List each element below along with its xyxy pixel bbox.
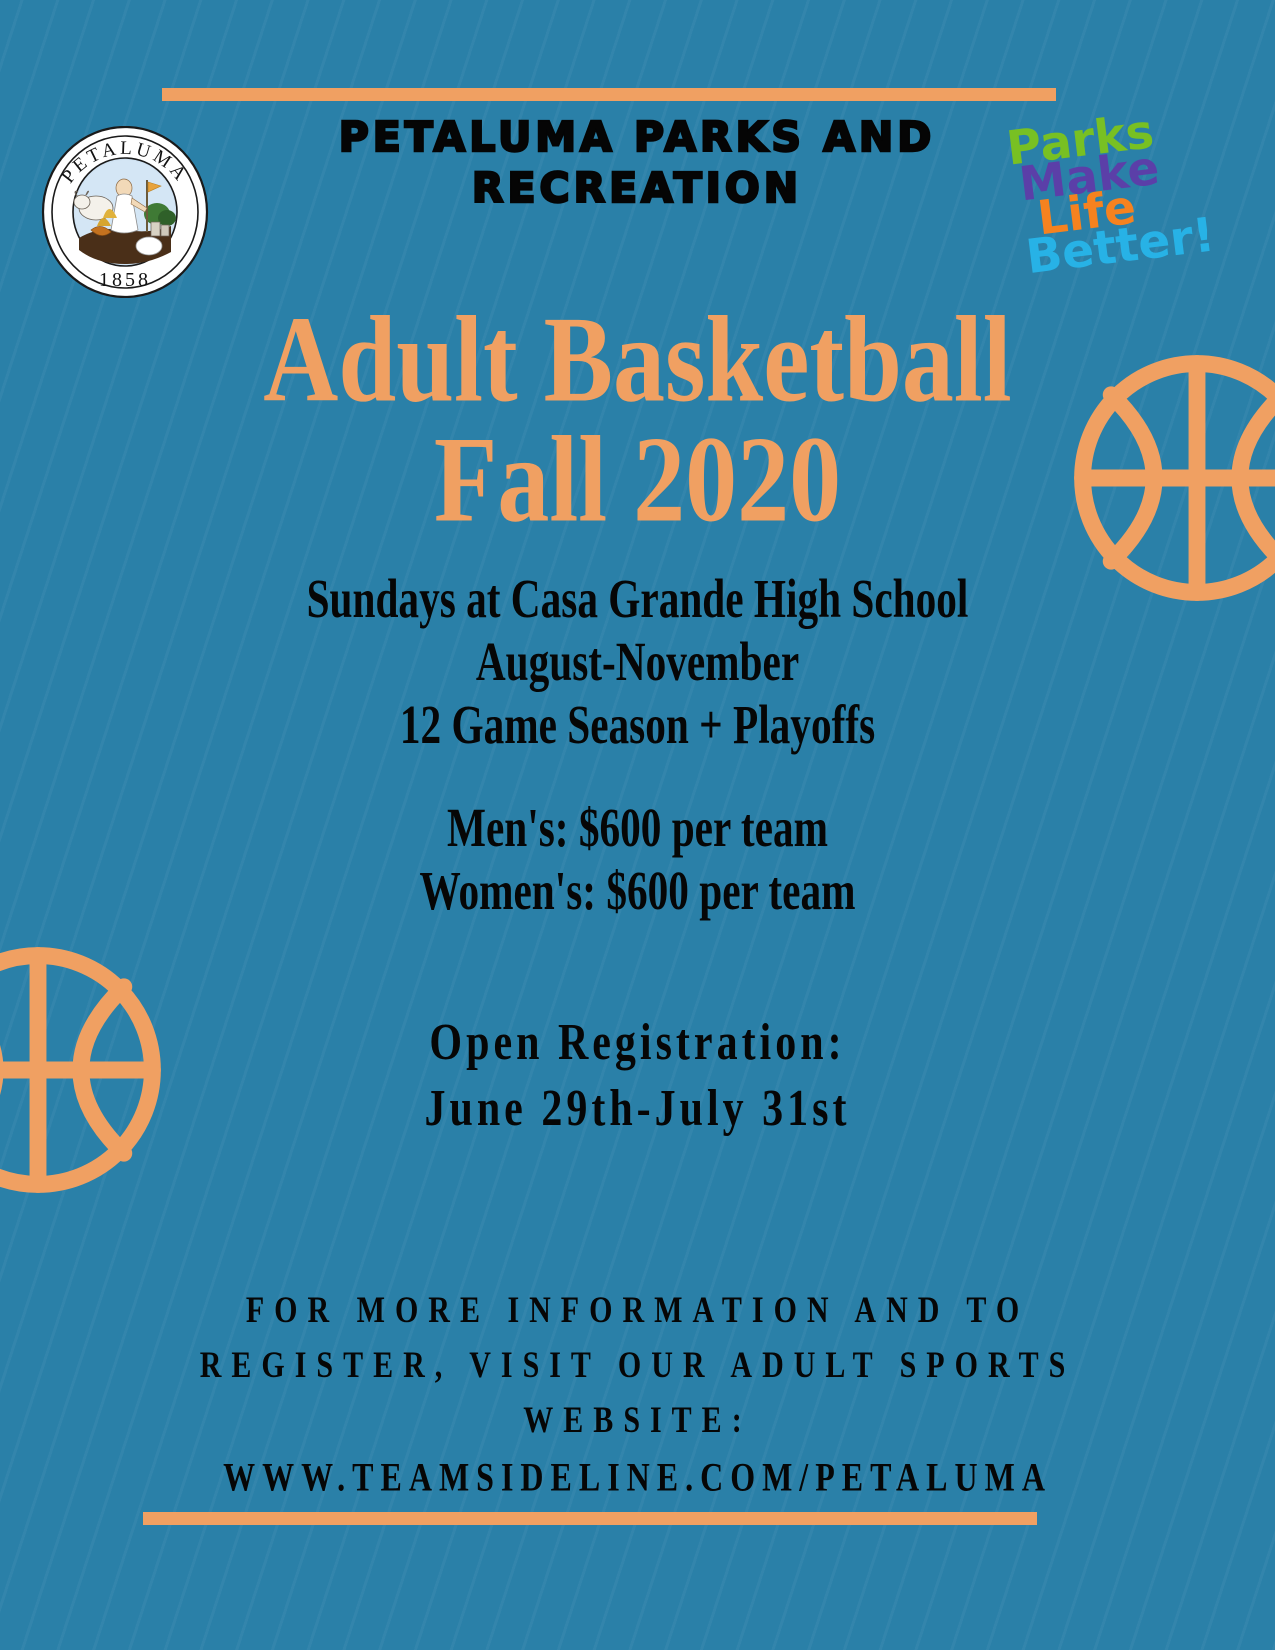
footer-line-1: For more information and to bbox=[0, 1292, 1275, 1329]
registration-block: Open Registration: June 29th-July 31st bbox=[0, 1022, 1275, 1154]
detail-months: August-November bbox=[26, 635, 1250, 690]
detail-mens-price: Men's: $600 per team bbox=[26, 801, 1250, 856]
svg-text:1858: 1858 bbox=[99, 269, 151, 291]
bottom-accent-bar bbox=[143, 1512, 1037, 1525]
flyer-title-line-1: Adult Basketball bbox=[0, 300, 1275, 420]
flyer-poster: PETALUMA 1858 PETALUMA PARKS AND RECREAT… bbox=[0, 0, 1275, 1650]
footer-line-2: register, visit our adult sports bbox=[0, 1347, 1275, 1384]
city-of-petaluma-seal-icon: PETALUMA 1858 bbox=[39, 126, 211, 298]
organization-name-line-2: RECREATION bbox=[472, 164, 802, 212]
detail-location: Sundays at Casa Grande High School bbox=[26, 572, 1250, 627]
footer-line-3: website: bbox=[0, 1402, 1275, 1439]
pmlb-line-better: Better! bbox=[1024, 219, 1201, 277]
organization-name: PETALUMA PARKS AND RECREATION bbox=[232, 112, 1042, 215]
flyer-title: Adult Basketball Fall 2020 bbox=[0, 300, 1275, 540]
footer-website-url[interactable]: www.teamsideline.com/petaluma bbox=[0, 1457, 1275, 1497]
flyer-title-line-2: Fall 2020 bbox=[0, 420, 1275, 540]
detail-season-format: 12 Game Season + Playoffs bbox=[26, 698, 1250, 753]
top-accent-bar bbox=[162, 88, 1056, 101]
program-details: Sundays at Casa Grande High School Augus… bbox=[0, 578, 1275, 933]
registration-dates: June 29th-July 31st bbox=[0, 1083, 1275, 1135]
detail-womens-price: Women's: $600 per team bbox=[26, 864, 1250, 919]
registration-heading: Open Registration: bbox=[0, 1017, 1275, 1069]
organization-name-line-1: PETALUMA PARKS AND bbox=[339, 113, 936, 161]
parks-make-life-better-logo: Parks Make Life Better! bbox=[1005, 110, 1203, 291]
footer-call-to-action: For more information and to register, vi… bbox=[0, 1296, 1275, 1493]
